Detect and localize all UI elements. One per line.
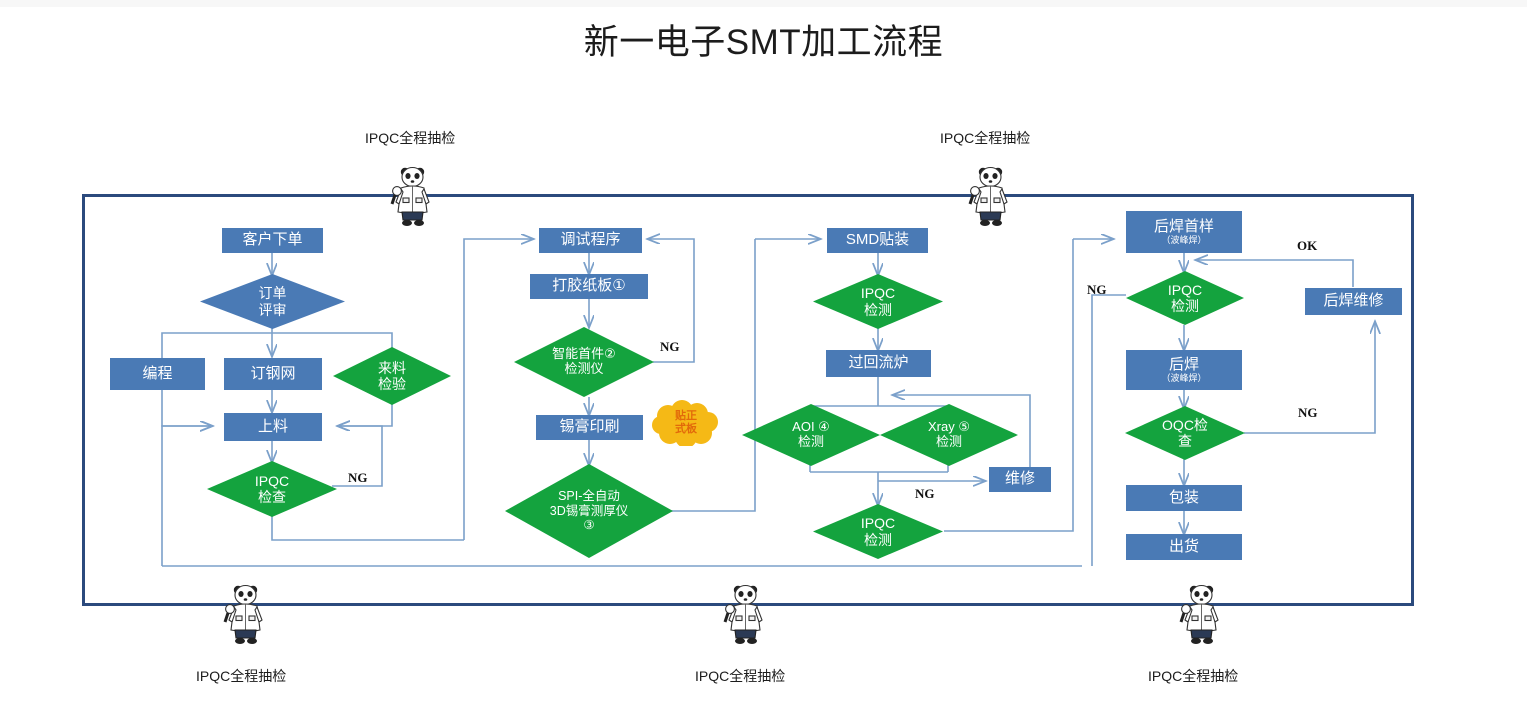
callout-cloud: 贴正 式板	[652, 400, 720, 446]
node-ipqc-check-1[interactable]: IPQC 检查	[207, 461, 337, 517]
edge-label-ng-col4-right: NG	[1298, 405, 1318, 421]
edge-label-ok-col4: OK	[1297, 238, 1317, 254]
node-feeding[interactable]: 上料	[224, 413, 322, 441]
node-packing[interactable]: 包装	[1126, 485, 1242, 511]
annotation-bottom-left: IPQC全程抽检	[196, 666, 286, 686]
node-reflow-oven[interactable]: 过回流炉	[826, 350, 931, 377]
annotation-top-right: IPQC全程抽检	[940, 128, 1030, 148]
node-order-review[interactable]: 订单 评审	[200, 274, 345, 329]
edge-label-ng-col4-left: NG	[1087, 282, 1107, 298]
node-smd-mount[interactable]: SMD贴装	[827, 228, 928, 253]
edge-label-ng-col2: NG	[660, 339, 680, 355]
panda-inspector-icon	[967, 162, 1015, 228]
node-customer-order[interactable]: 客户下单	[222, 228, 323, 253]
node-label: AOI ④ 检测	[792, 420, 830, 450]
annotation-top-left: IPQC全程抽检	[365, 128, 455, 148]
node-sublabel: （波峰焊）	[1161, 373, 1206, 383]
edge-label-ng-col3: NG	[915, 486, 935, 502]
node-label: 订单 评审	[259, 285, 287, 317]
node-label: 客户下单	[242, 232, 302, 249]
callout-text: 贴正 式板	[675, 410, 697, 435]
panda-inspector-icon	[1178, 580, 1226, 646]
node-aoi-inspection[interactable]: AOI ④ 检测	[742, 404, 880, 466]
node-debug-program[interactable]: 调试程序	[539, 228, 642, 253]
node-label: 上料	[258, 419, 288, 436]
node-label: 调试程序	[560, 232, 620, 249]
flowchart-canvas: 新一电子SMT加工流程	[0, 0, 1527, 720]
node-post-solder[interactable]: 后焊 （波峰焊）	[1126, 350, 1242, 390]
node-sublabel: （波峰焊）	[1161, 235, 1206, 245]
node-label: 后焊维修	[1323, 293, 1383, 310]
panda-inspector-icon	[722, 580, 770, 646]
node-label: Xray ⑤ 检测	[928, 420, 970, 450]
node-label: 来料 检验	[378, 360, 406, 392]
node-oqc-check[interactable]: OQC检 查	[1125, 406, 1245, 460]
panda-inspector-icon	[222, 580, 270, 646]
panda-inspector-icon	[389, 162, 437, 228]
node-label: IPQC 检查	[255, 473, 289, 505]
node-ipqc-check-2[interactable]: IPQC 检测	[813, 274, 943, 329]
node-glue-board[interactable]: 打胶纸板①	[530, 274, 648, 299]
node-order-stencil[interactable]: 订钢网	[224, 358, 322, 390]
node-programming[interactable]: 编程	[110, 358, 205, 390]
node-label: 锡膏印刷	[559, 419, 619, 436]
node-label: 维修	[1005, 471, 1035, 488]
node-ipqc-check-3[interactable]: IPQC 检测	[813, 504, 943, 559]
node-label: IPQC 检测	[861, 285, 895, 317]
edge-label-ng-col1: NG	[348, 470, 368, 486]
node-shipping[interactable]: 出货	[1126, 534, 1242, 560]
node-label: 后焊首样	[1154, 219, 1214, 236]
node-label: 包装	[1169, 490, 1199, 507]
node-solder-paste-print[interactable]: 锡膏印刷	[536, 415, 643, 440]
node-spi-3d-thickness[interactable]: SPI-全自动 3D锡膏测厚仪 ③	[505, 464, 673, 558]
node-label: IPQC 检测	[861, 515, 895, 547]
node-post-solder-fai[interactable]: 后焊首样 （波峰焊）	[1126, 211, 1242, 253]
node-incoming-inspection[interactable]: 来料 检验	[333, 347, 451, 405]
node-label: SPI-全自动 3D锡膏测厚仪 ③	[550, 489, 628, 532]
node-label: 出货	[1169, 539, 1199, 556]
node-label: IPQC 检测	[1168, 282, 1202, 314]
node-repair[interactable]: 维修	[989, 467, 1051, 492]
node-smart-fai-tester[interactable]: 智能首件② 检测仪	[514, 327, 654, 397]
annotation-bottom-right: IPQC全程抽检	[1148, 666, 1238, 686]
node-xray-inspection[interactable]: Xray ⑤ 检测	[880, 404, 1018, 466]
node-label: 打胶纸板①	[552, 278, 625, 295]
annotation-bottom-center: IPQC全程抽检	[695, 666, 785, 686]
node-post-solder-repair[interactable]: 后焊维修	[1305, 288, 1402, 315]
node-label: OQC检 查	[1162, 417, 1208, 449]
node-label: SMD贴装	[846, 232, 909, 249]
node-ipqc-check-4[interactable]: IPQC 检测	[1126, 271, 1244, 325]
node-label: 过回流炉	[848, 355, 908, 372]
node-label: 编程	[142, 366, 172, 383]
node-label: 后焊	[1169, 357, 1199, 374]
node-label: 智能首件② 检测仪	[552, 347, 616, 377]
node-label: 订钢网	[250, 366, 295, 383]
